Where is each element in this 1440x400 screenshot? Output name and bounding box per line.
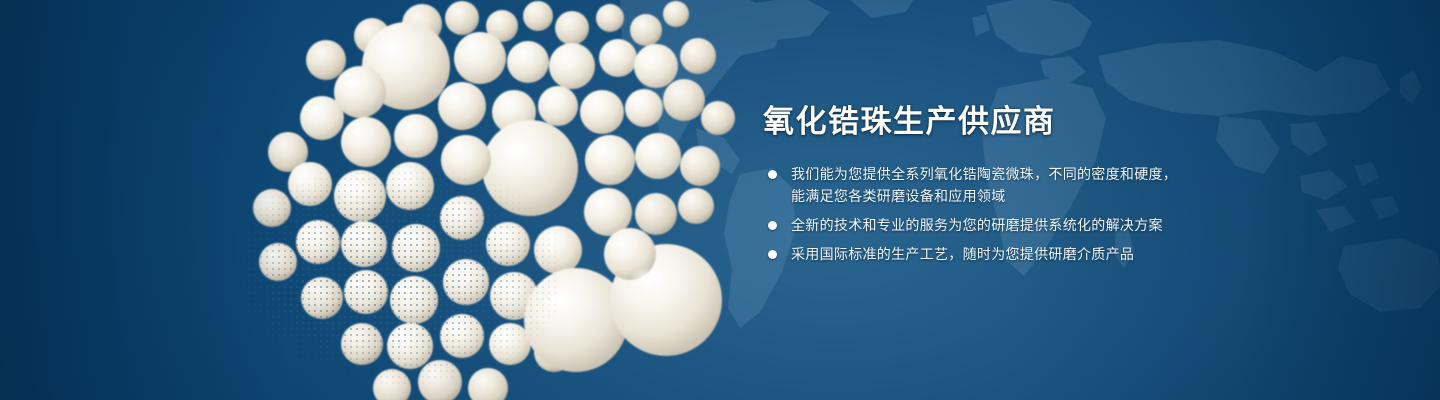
banner-copy: 氧化锆珠生产供应商 我们能为您提供全系列氧化锆陶瓷微珠，不同的密度和硬度， 能满… bbox=[763, 104, 1363, 265]
feature-text-1-line-2: 能满足您各类研磨设备和应用领域 bbox=[791, 185, 1363, 207]
feature-text-1-line-1: 我们能为您提供全系列氧化锆陶瓷微珠，不同的密度和硬度， bbox=[791, 163, 1363, 185]
bullet-dot-icon bbox=[768, 170, 777, 179]
feature-list: 我们能为您提供全系列氧化锆陶瓷微珠，不同的密度和硬度， 能满足您各类研磨设备和应… bbox=[763, 163, 1363, 265]
bullet-dot-icon bbox=[768, 250, 777, 259]
feature-list-item-1: 我们能为您提供全系列氧化锆陶瓷微珠，不同的密度和硬度， 能满足您各类研磨设备和应… bbox=[763, 163, 1363, 207]
promo-banner: 氧化锆珠生产供应商 我们能为您提供全系列氧化锆陶瓷微珠，不同的密度和硬度， 能满… bbox=[0, 0, 1440, 400]
feature-text-2-line-1: 全新的技术和专业的服务为您的研磨提供系统化的解决方案 bbox=[791, 214, 1363, 236]
feature-list-item-3: 采用国际标准的生产工艺，随时为您提供研磨介质产品 bbox=[763, 243, 1363, 265]
feature-text-3-line-1: 采用国际标准的生产工艺，随时为您提供研磨介质产品 bbox=[791, 243, 1363, 265]
banner-headline: 氧化锆珠生产供应商 bbox=[763, 104, 1363, 141]
bullet-dot-icon bbox=[768, 221, 777, 230]
feature-list-item-2: 全新的技术和专业的服务为您的研磨提供系统化的解决方案 bbox=[763, 214, 1363, 236]
